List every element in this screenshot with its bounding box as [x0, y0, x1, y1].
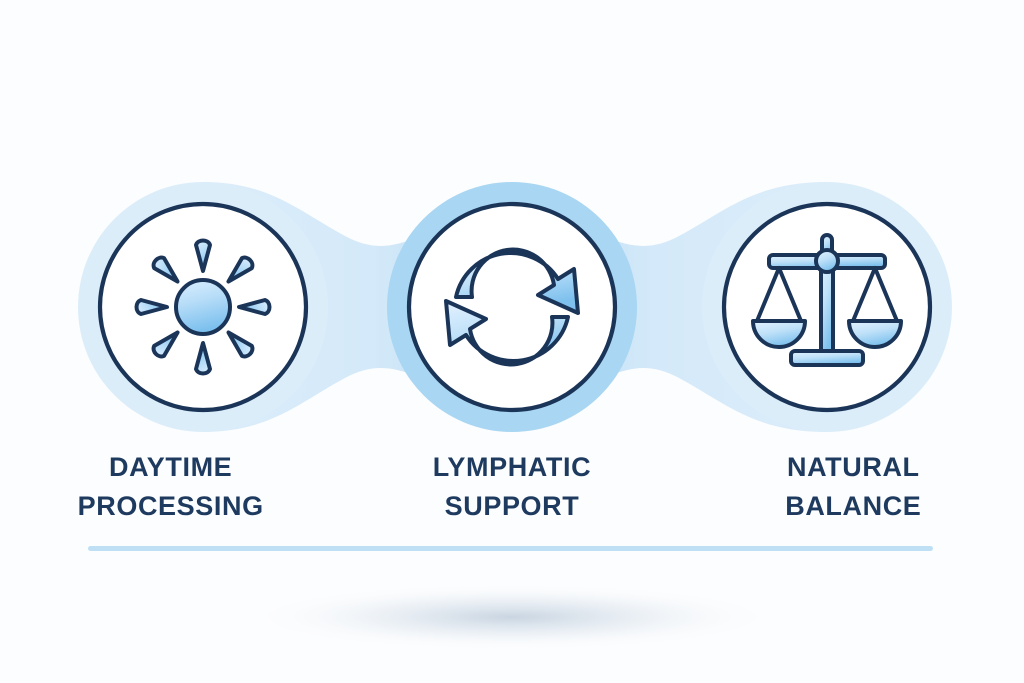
label-line-1: LYMPHATIC: [341, 448, 682, 487]
label-line-1: NATURAL: [683, 448, 1024, 487]
ground-shadow: [242, 583, 782, 651]
infographic-stage: DAYTIME PROCESSING LYMPHATIC SUPPORT NAT…: [0, 0, 1024, 683]
scale-pivot: [816, 250, 838, 272]
label-line-2: PROCESSING: [0, 487, 341, 526]
label-natural-balance: NATURAL BALANCE: [683, 448, 1024, 538]
blob-background: [0, 0, 1024, 683]
label-line-2: BALANCE: [683, 487, 1024, 526]
label-row: DAYTIME PROCESSING LYMPHATIC SUPPORT NAT…: [0, 448, 1024, 538]
scale-base: [791, 351, 863, 365]
label-line-2: SUPPORT: [341, 487, 682, 526]
icon-circle-lymphatic-support[interactable]: [409, 204, 615, 410]
sun-icon: [137, 241, 270, 374]
label-lymphatic-support: LYMPHATIC SUPPORT: [341, 448, 682, 538]
label-daytime-processing: DAYTIME PROCESSING: [0, 448, 341, 538]
label-line-1: DAYTIME: [0, 448, 341, 487]
horizontal-rule: [88, 546, 933, 551]
sun-core: [176, 280, 230, 334]
